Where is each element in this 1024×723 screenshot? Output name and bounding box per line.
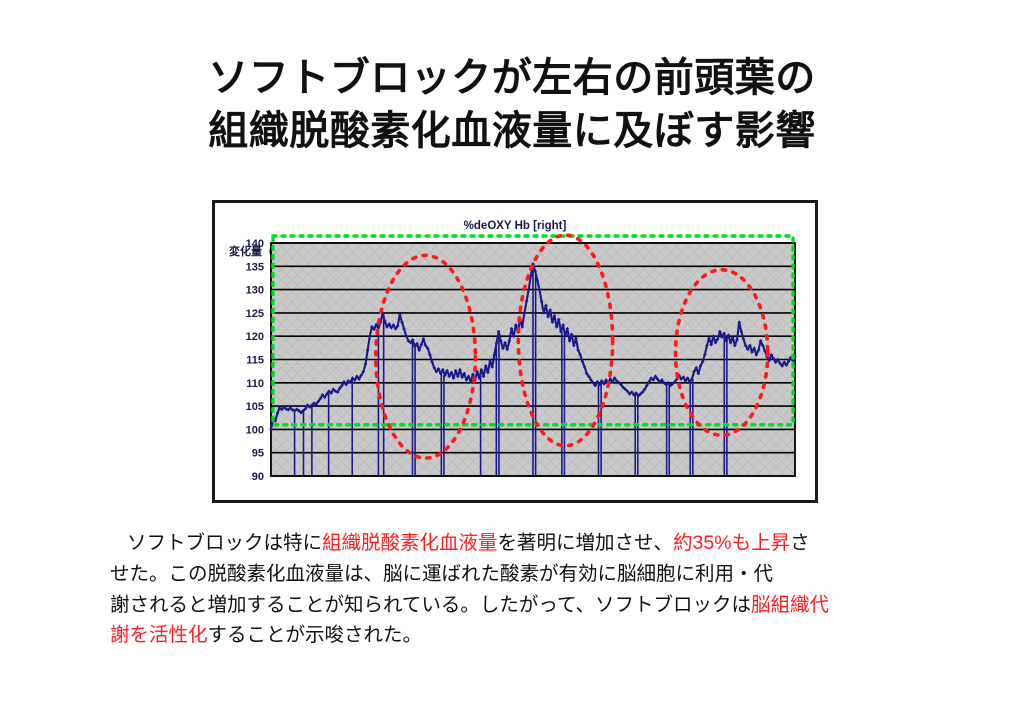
caption-run-2-highlight: 組織脱酸素化血液量 [322, 532, 498, 554]
y-tick-label: 140 [246, 238, 264, 250]
caption-run-8-highlight: 脳組織代 [751, 594, 829, 616]
y-tick-label: 100 [246, 424, 264, 436]
y-tick-label: 125 [246, 308, 264, 320]
y-tick-label: 105 [246, 401, 264, 413]
chart-title: %deOXY Hb [right] [464, 220, 567, 232]
slide-root: ソフトブロックが左右の前頭葉の 組織脱酸素化血液量に及ぼす影響 %deOXY H… [0, 0, 1024, 723]
y-tick-label: 115 [246, 355, 264, 367]
caption-line-1: ソフトブロックは特に組織脱酸素化血液量を著明に増加させ、約35%も上昇さ [110, 528, 938, 559]
page-title: ソフトブロックが左右の前頭葉の 組織脱酸素化血液量に及ぼす影響 [0, 52, 1024, 158]
y-tick-label: 120 [246, 331, 264, 343]
y-tick-label: 95 [252, 448, 264, 460]
y-tick-label: 135 [246, 261, 264, 273]
caption-line-4: 謝を活性化することが示唆された。 [110, 620, 938, 651]
caption-run-1: ソフトブロックは特に [127, 532, 322, 554]
plot-area [269, 243, 797, 476]
caption-run-7: 謝されると増加することが知られている。したがって、ソフトブロックは [110, 594, 751, 616]
caption-run-6: せた。この脱酸素化血液量は、脳に運ばれた酸素が有効に脳細胞に利用・代 [110, 563, 773, 585]
caption-block: ソフトブロックは特に組織脱酸素化血液量を著明に増加させ、約35%も上昇さ せた。… [110, 528, 938, 651]
caption-run-10: することが示唆された。 [208, 624, 423, 646]
chart-figure: %deOXY Hb [right] 変化量（%） 140135130125120… [212, 200, 818, 503]
title-line-2: 組織脱酸素化血液量に及ぼす影響 [0, 105, 1024, 158]
y-tick-label: 130 [246, 285, 264, 297]
y-tick-label: 90 [252, 471, 264, 483]
chart-svg: %deOXY Hb [right] 変化量（%） 140135130125120… [215, 203, 815, 500]
caption-run-9-highlight: 謝を活性化 [110, 624, 208, 646]
caption-run-3: を著明に増加させ、 [498, 532, 674, 554]
caption-line-3: 謝されると増加することが知られている。したがって、ソフトブロックは脳組織代 [110, 590, 938, 621]
caption-run-5: さ [790, 532, 810, 554]
y-tick-label: 110 [246, 378, 264, 390]
caption-run-4-highlight: 約35%も上昇 [673, 532, 790, 554]
title-line-1: ソフトブロックが左右の前頭葉の [0, 52, 1024, 105]
caption-line-2: せた。この脱酸素化血液量は、脳に運ばれた酸素が有効に脳細胞に利用・代 [110, 559, 938, 590]
